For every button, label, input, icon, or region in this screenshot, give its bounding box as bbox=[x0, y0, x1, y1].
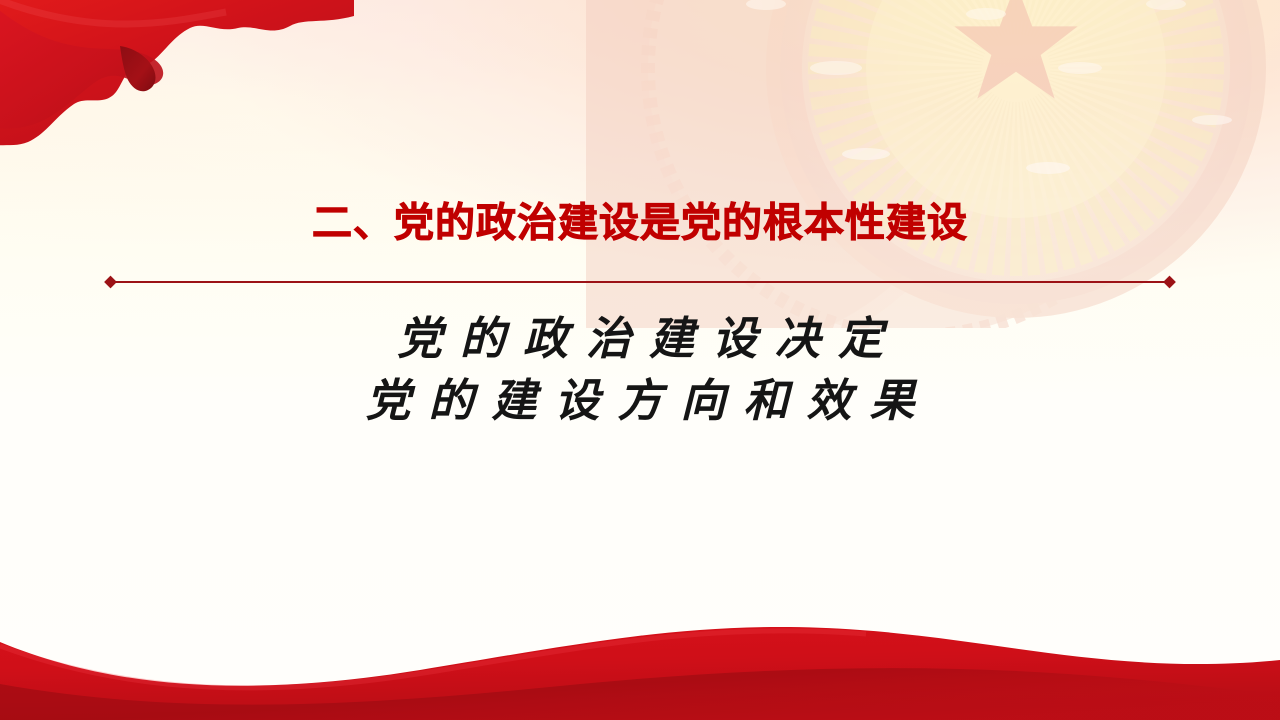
body-line-1: 党的政治建设决定 bbox=[0, 308, 1280, 370]
slide-content: 二、党的政治建设是党的根本性建设 党的政治建设决定 党的建设方向和效果 bbox=[0, 0, 1280, 720]
divider-left-diamond-icon bbox=[104, 276, 117, 289]
page-title: 二、党的政治建设是党的根本性建设 bbox=[0, 200, 1280, 247]
heading-block: 二、党的政治建设是党的根本性建设 bbox=[0, 200, 1280, 247]
body-text-block: 党的政治建设决定 党的建设方向和效果 bbox=[0, 308, 1280, 432]
body-line-2: 党的建设方向和效果 bbox=[0, 370, 1280, 432]
title-divider bbox=[110, 281, 1170, 283]
slide-canvas: 二、党的政治建设是党的根本性建设 党的政治建设决定 党的建设方向和效果 bbox=[0, 0, 1280, 720]
divider-right-diamond-icon bbox=[1163, 276, 1176, 289]
